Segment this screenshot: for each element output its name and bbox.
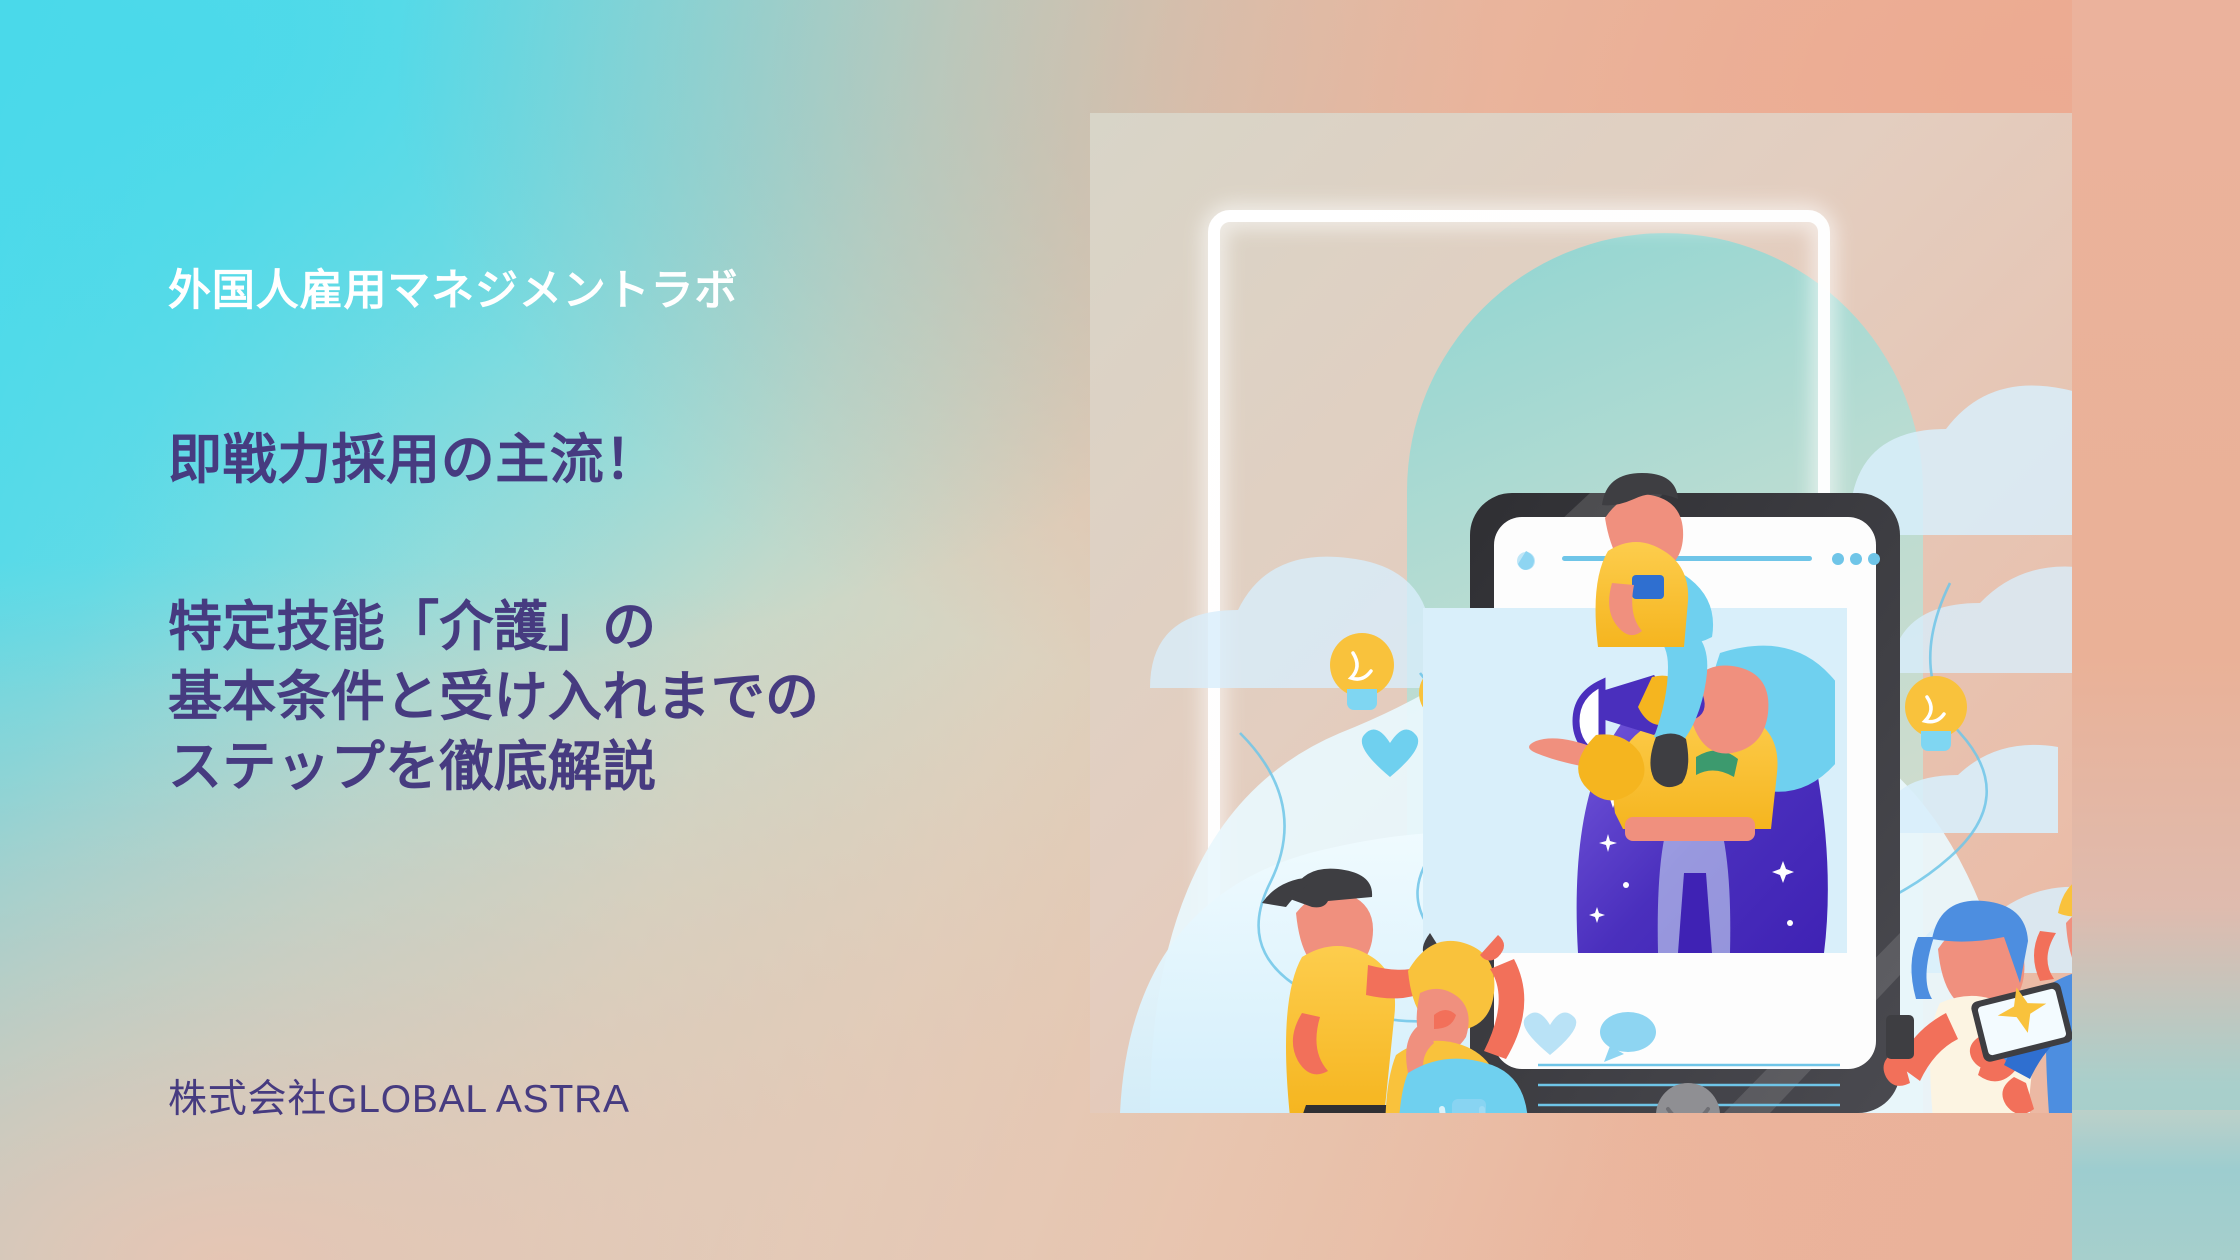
page-title: 特定技能「介護」の 基本条件と受け入れまでの ステップを徹底解説 <box>168 592 819 803</box>
text-column: 外国人雇用マネジメントラボ 即戦力採用の主流！ 特定技能「介護」の 基本条件と受… <box>168 0 1098 1260</box>
subtitle-label: 即戦力採用の主流！ <box>168 427 659 495</box>
background-right-strip-lower <box>2072 1110 2240 1260</box>
title-line-3: ステップを徹底解説 <box>168 732 819 802</box>
title-line-1: 特定技能「介護」の <box>168 592 819 662</box>
illustration-panel <box>1090 113 2072 1113</box>
title-line-2: 基本条件と受け入れまでの <box>168 662 819 732</box>
kicker-label: 外国人雇用マネジメントラボ <box>168 265 738 319</box>
speech-bubble-icon <box>1600 1012 1656 1052</box>
social-card-canvas: 外国人雇用マネジメントラボ 即戦力採用の主流！ 特定技能「介護」の 基本条件と受… <box>0 0 2240 1260</box>
brand-label: 株式会社GLOBAL ASTRA <box>168 1068 630 1124</box>
background-right-strip <box>2072 0 2240 1260</box>
